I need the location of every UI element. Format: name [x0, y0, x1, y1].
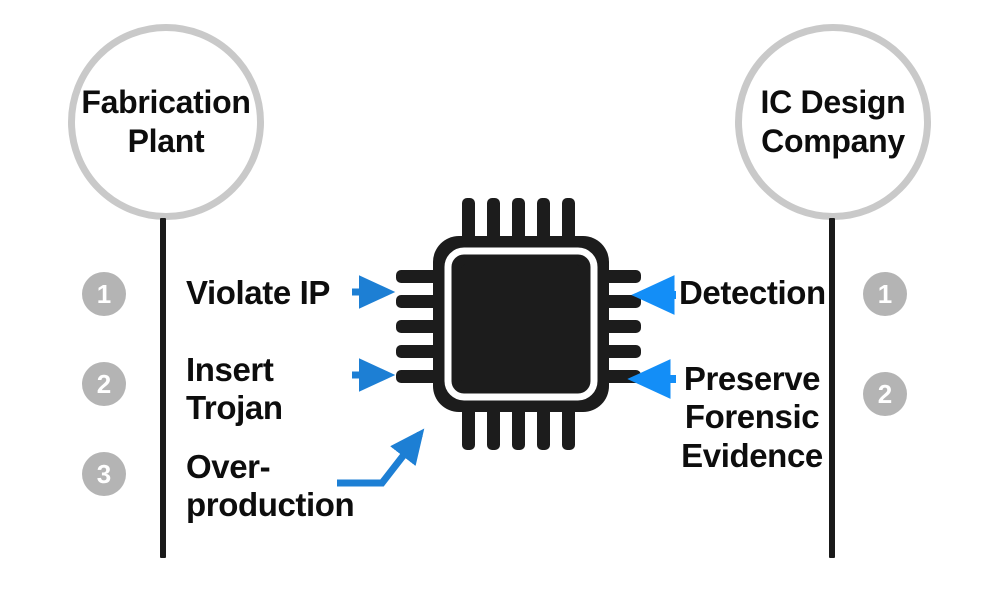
chip-and-arrows-artwork	[0, 0, 1000, 595]
arrow-overproduction	[337, 434, 420, 483]
integrated-circuit-icon	[396, 198, 641, 450]
chip-die	[461, 264, 581, 384]
chip-pins-bottom	[462, 406, 575, 450]
chip-pins-top	[462, 198, 575, 242]
diagram-canvas: Fabrication Plant IC Design Company 1 2 …	[0, 0, 1000, 595]
